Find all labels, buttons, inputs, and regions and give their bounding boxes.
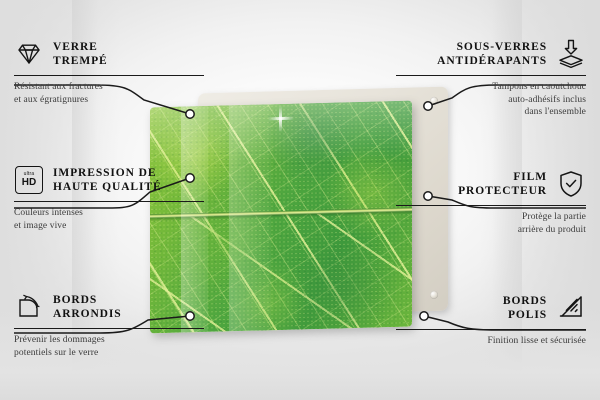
feature-description: Couleurs intenses et image vive xyxy=(14,207,204,232)
feature-header: SOUS-VERRES ANTIDÉRAPANTS xyxy=(396,36,586,72)
shield-check-icon xyxy=(556,169,586,199)
feature-header: BORDS POLIS xyxy=(396,290,586,326)
feature-divider xyxy=(14,328,204,329)
feature-title: FILM PROTECTEUR xyxy=(458,170,547,198)
feature-divider xyxy=(396,75,586,76)
polished-edge-icon xyxy=(556,293,586,323)
feature-header: VERRE TREMPÉ xyxy=(14,36,204,72)
infographic-canvas: VERRE TREMPÉ Résistant aux fractures et … xyxy=(0,0,600,400)
feature-header: BORDS ARRONDIS xyxy=(14,289,204,325)
adhesive-pad-icon xyxy=(556,39,586,69)
feature-verre-trempe[interactable]: VERRE TREMPÉ Résistant aux fractures et … xyxy=(14,36,204,106)
feature-impression-haute-qualite[interactable]: ultra HD IMPRESSION DE HAUTE QUALITÉ Cou… xyxy=(14,162,204,232)
feature-description: Résistant aux fractures et aux égratignu… xyxy=(14,81,204,106)
feature-description: Tampons en caoutchouc auto-adhésifs incl… xyxy=(396,81,586,119)
feature-description: Prévenir les dommages potentiels sur le … xyxy=(14,334,204,359)
feature-header: ultra HD IMPRESSION DE HAUTE QUALITÉ xyxy=(14,162,204,198)
badge-hd-label: HD xyxy=(22,178,36,188)
feature-title: SOUS-VERRES ANTIDÉRAPANTS xyxy=(437,40,547,68)
feature-title: VERRE TREMPÉ xyxy=(53,40,108,68)
feature-divider xyxy=(396,329,586,330)
feature-title: IMPRESSION DE HAUTE QUALITÉ xyxy=(53,166,162,194)
feature-sous-verres-antiderapants[interactable]: SOUS-VERRES ANTIDÉRAPANTS Tampons en cao… xyxy=(396,36,586,119)
rounded-corner-icon xyxy=(14,292,44,322)
feature-title: BORDS ARRONDIS xyxy=(53,293,122,321)
feature-description: Protège la partie arrière du produit xyxy=(396,211,586,236)
feature-header: FILM PROTECTEUR xyxy=(396,166,586,202)
feature-divider xyxy=(14,201,204,202)
feature-film-protecteur[interactable]: FILM PROTECTEUR Protège la partie arrièr… xyxy=(396,166,586,236)
feature-title: BORDS POLIS xyxy=(503,294,547,322)
ultra-hd-badge-icon: ultra HD xyxy=(14,165,44,195)
feature-bords-arrondis[interactable]: BORDS ARRONDIS Prévenir les dommages pot… xyxy=(14,289,204,359)
diamond-icon xyxy=(14,39,44,69)
feature-bords-polis[interactable]: BORDS POLIS Finition lisse et sécurisée xyxy=(396,290,586,348)
feature-divider xyxy=(14,75,204,76)
feature-divider xyxy=(396,205,586,206)
feature-description: Finition lisse et sécurisée xyxy=(396,335,586,348)
